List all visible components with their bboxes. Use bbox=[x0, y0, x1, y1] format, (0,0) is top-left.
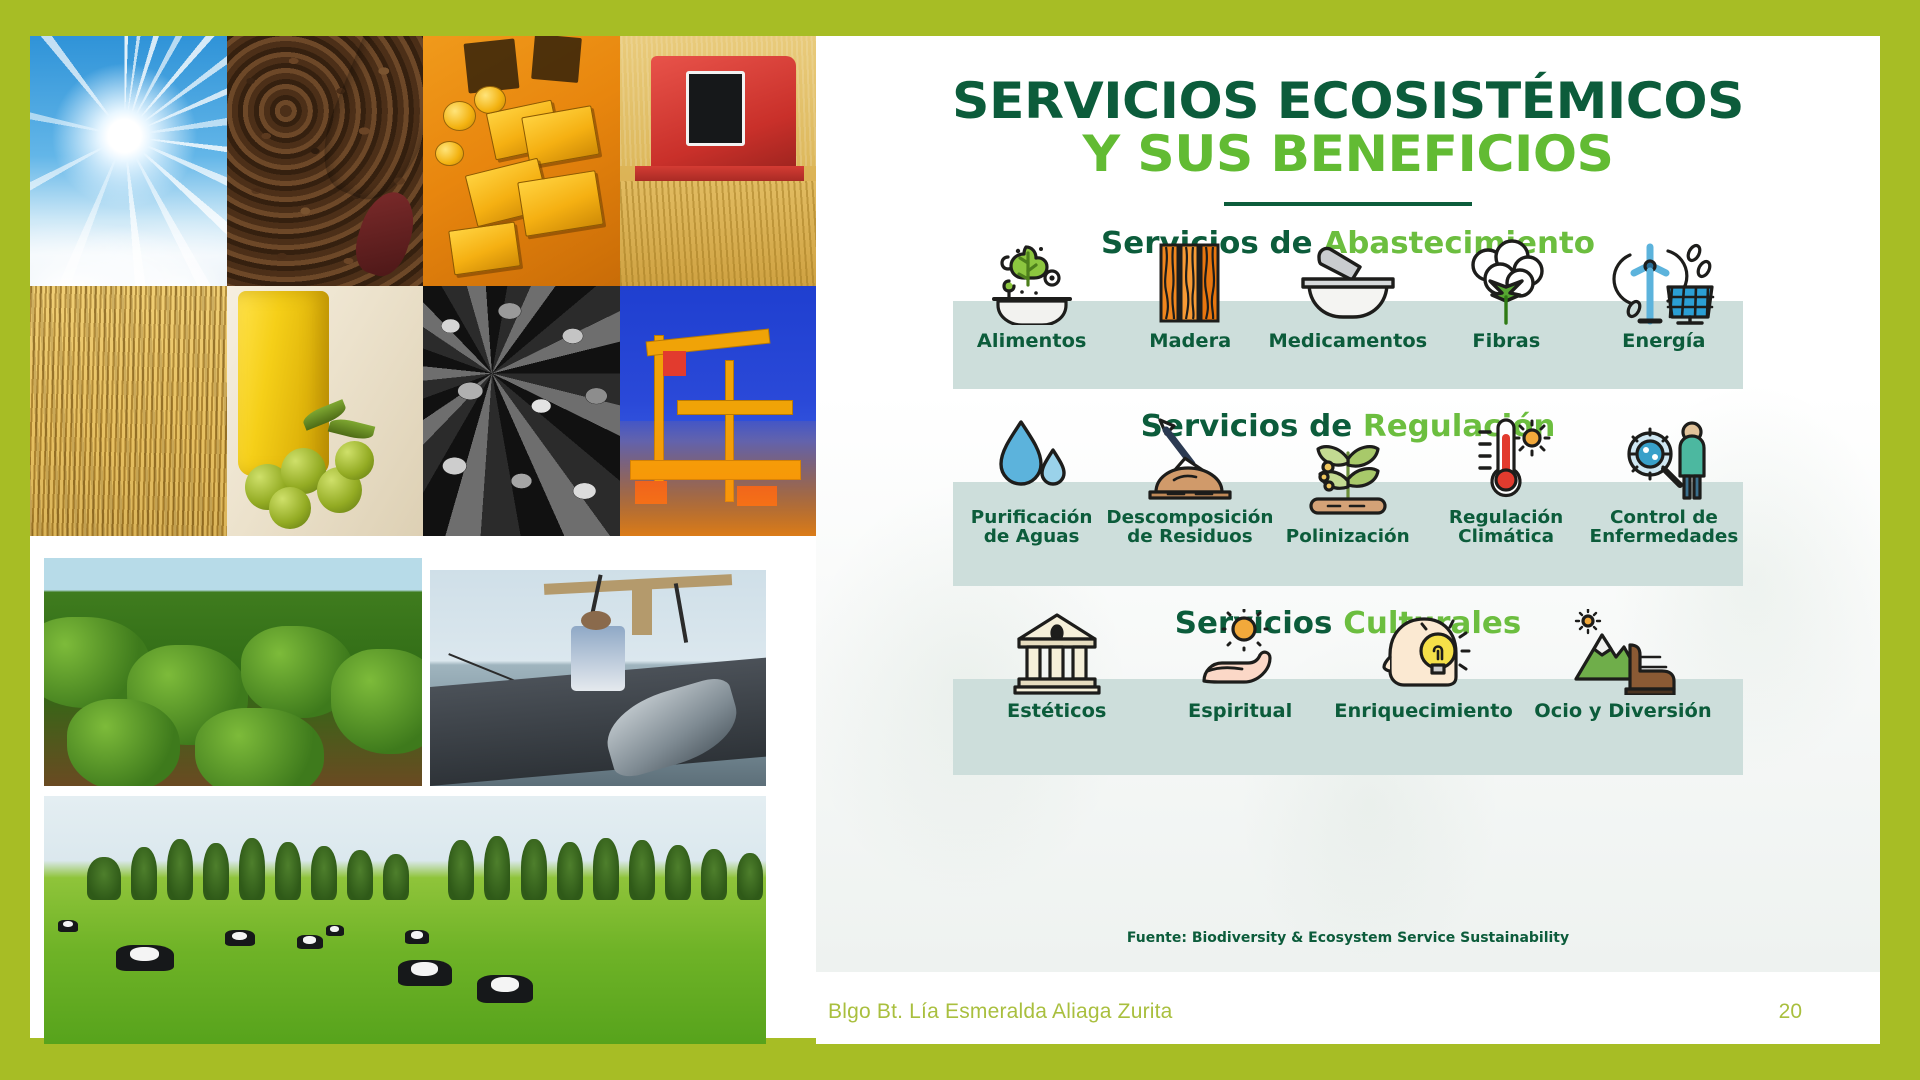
slide-footer: Blgo Bt. Lía Esmeralda Aliaga Zurita 20 bbox=[816, 988, 1880, 1036]
row-abastecimiento: Alimentos bbox=[953, 239, 1743, 352]
item-label: Enriquecimiento bbox=[1334, 701, 1513, 722]
port-cranes-photo bbox=[620, 286, 817, 536]
item-medicamentos[interactable]: Medicamentos bbox=[1269, 239, 1427, 352]
item-label: Ocio y Diversión bbox=[1534, 701, 1711, 722]
item-label: Alimentos bbox=[977, 331, 1087, 352]
item-label: Control de Enfermedades bbox=[1590, 508, 1739, 547]
infographic-title: SERVICIOS ECOSISTÉMICOS Y SUS BENEFICIOS bbox=[816, 36, 1880, 180]
item-fibras[interactable]: Fibras bbox=[1427, 239, 1585, 352]
item-label-line1: Control de bbox=[1610, 507, 1718, 528]
item-label: Medicamentos bbox=[1269, 331, 1428, 352]
photo-collage-column bbox=[30, 36, 816, 1044]
water-drops-icon bbox=[989, 416, 1075, 502]
item-label: Madera bbox=[1149, 331, 1231, 352]
item-label-line1: Regulación bbox=[1449, 507, 1563, 528]
wheat-field-photo bbox=[30, 286, 227, 536]
mountain-boot-icon bbox=[1568, 609, 1678, 695]
flower-plant-icon bbox=[1300, 435, 1396, 521]
museum-temple-icon bbox=[1011, 609, 1103, 695]
cotton-plant-icon bbox=[1462, 239, 1550, 325]
hand-sun-icon bbox=[1194, 609, 1286, 695]
item-label: Descomposición de Residuos bbox=[1106, 508, 1273, 547]
coffee-beans-photo bbox=[227, 36, 424, 286]
band-abastecimiento: Alimentos bbox=[953, 301, 1743, 389]
sun-sky-photo bbox=[30, 36, 227, 286]
item-label: Polinización bbox=[1286, 527, 1410, 546]
author-name: Blgo Bt. Lía Esmeralda Aliaga Zurita bbox=[828, 1000, 1173, 1024]
page-number: 20 bbox=[1779, 1000, 1802, 1024]
item-label: Espiritual bbox=[1188, 701, 1292, 722]
microscope-virus-icon bbox=[1618, 416, 1710, 502]
wood-planks-icon bbox=[1155, 239, 1225, 325]
item-polinizacion[interactable]: Polinización bbox=[1269, 435, 1427, 546]
thermometer-sun-icon bbox=[1460, 416, 1552, 502]
item-esteticos[interactable]: Estéticos bbox=[978, 609, 1136, 722]
mortar-pestle-icon bbox=[1295, 239, 1401, 325]
title-line-2: Y SUS BENEFICIOS bbox=[816, 129, 1880, 180]
item-purificacion-aguas[interactable]: Purificación de Aguas bbox=[953, 416, 1111, 547]
shovel-soil-icon bbox=[1140, 416, 1240, 502]
item-energia[interactable]: Energía bbox=[1585, 239, 1743, 352]
olive-oil-photo bbox=[227, 286, 424, 536]
farm-workers-photo bbox=[44, 558, 422, 786]
head-lightbulb-icon bbox=[1374, 609, 1474, 695]
item-label: Energía bbox=[1622, 331, 1705, 352]
item-espiritual[interactable]: Espiritual bbox=[1161, 609, 1319, 722]
item-label: Regulación Climática bbox=[1449, 508, 1563, 547]
item-label-line2: Climática bbox=[1458, 526, 1554, 547]
item-madera[interactable]: Madera bbox=[1111, 239, 1269, 352]
title-line-1: SERVICIOS ECOSISTÉMICOS bbox=[816, 76, 1880, 127]
salad-bowl-icon bbox=[984, 239, 1080, 325]
item-label-line2: de Aguas bbox=[984, 526, 1080, 547]
item-alimentos[interactable]: Alimentos bbox=[953, 239, 1111, 352]
infographic-card: SERVICIOS ECOSISTÉMICOS Y SUS BENEFICIOS… bbox=[816, 36, 1880, 972]
item-label: Estéticos bbox=[1007, 701, 1106, 722]
item-control-enfermedades[interactable]: Control de Enfermedades bbox=[1585, 416, 1743, 547]
treeline bbox=[44, 831, 766, 900]
gold-bars-photo bbox=[423, 36, 620, 286]
item-label-line2: Enfermedades bbox=[1590, 526, 1739, 547]
title-divider bbox=[1224, 202, 1472, 206]
fisherman-tuna-photo bbox=[430, 570, 766, 786]
item-label: Fibras bbox=[1472, 331, 1540, 352]
item-label-line1: Purificación bbox=[971, 507, 1093, 528]
item-ocio-diversion[interactable]: Ocio y Diversión bbox=[1528, 609, 1718, 722]
top-photo-grid bbox=[30, 36, 816, 536]
infographic-source: Fuente: Biodiversity & Ecosystem Service… bbox=[816, 930, 1880, 946]
item-label-line1: Descomposición bbox=[1106, 507, 1273, 528]
item-regulacion-climatica[interactable]: Regulación Climática bbox=[1427, 416, 1585, 547]
bottom-photo-group bbox=[44, 558, 766, 1044]
band-regulacion: Purificación de Aguas bbox=[953, 482, 1743, 586]
item-label-line2: de Residuos bbox=[1127, 526, 1253, 547]
row-regulacion: Purificación de Aguas bbox=[953, 416, 1743, 547]
slide-root: SERVICIOS ECOSISTÉMICOS Y SUS BENEFICIOS… bbox=[0, 0, 1920, 1080]
band-culturales: Estéticos bbox=[953, 679, 1743, 775]
coal-rocks-photo bbox=[423, 286, 620, 536]
wind-solar-icon bbox=[1612, 239, 1716, 325]
item-label: Purificación de Aguas bbox=[971, 508, 1093, 547]
infographic-column: SERVICIOS ECOSISTÉMICOS Y SUS BENEFICIOS… bbox=[816, 36, 1880, 1044]
item-enriquecimiento[interactable]: Enriquecimiento bbox=[1345, 609, 1503, 722]
harvester-wheat-photo bbox=[620, 36, 817, 286]
item-descomposicion-residuos[interactable]: Descomposición de Residuos bbox=[1111, 416, 1269, 547]
row-culturales: Estéticos bbox=[953, 609, 1743, 722]
cattle-pasture-photo bbox=[44, 796, 766, 1044]
